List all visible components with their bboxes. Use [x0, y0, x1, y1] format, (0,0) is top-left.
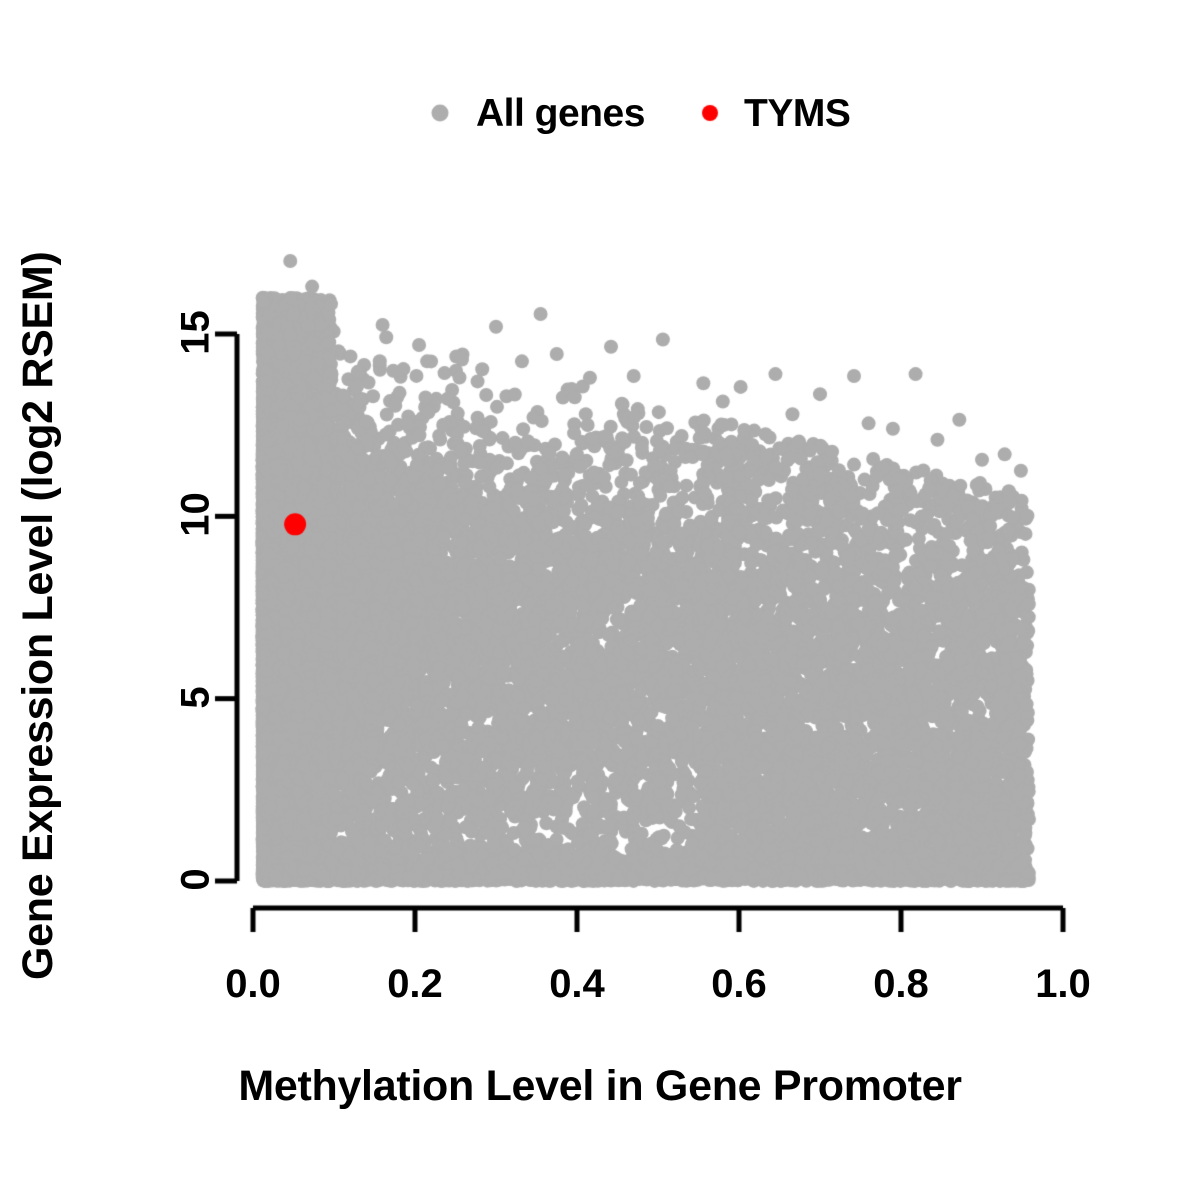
scatter-plot-canvas [0, 0, 1200, 1200]
scatter-plot-figure: All genes TYMS Methylation Level in Gene… [0, 0, 1200, 1200]
